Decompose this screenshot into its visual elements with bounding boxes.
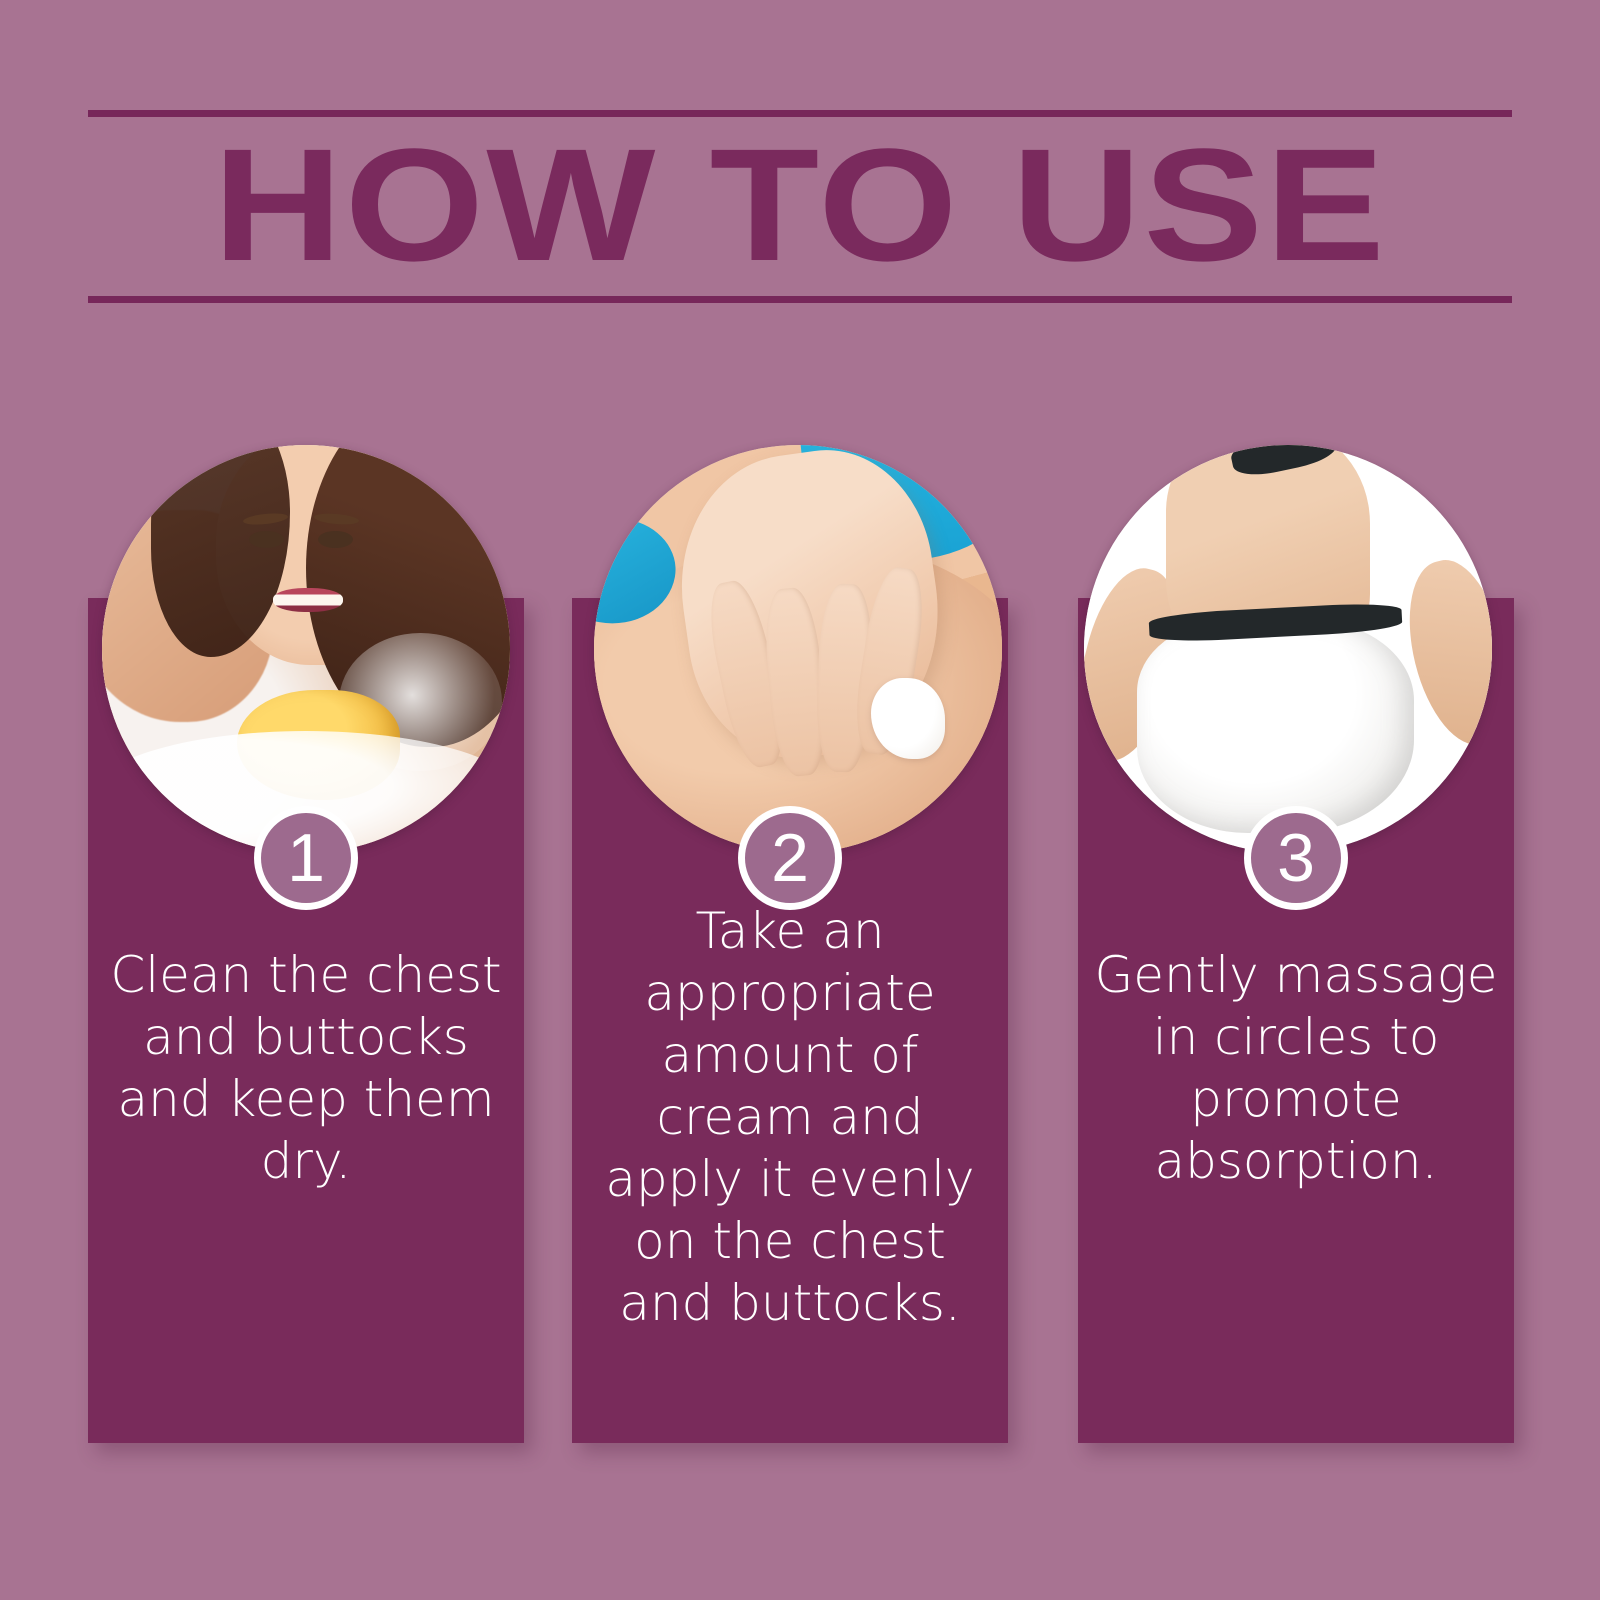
step-number-3: 3 (1277, 824, 1315, 892)
step-number-badge-2: 2 (738, 806, 842, 910)
woman-bathing-with-sponge-photo (102, 445, 510, 853)
step-caption-2: Take an appropriate amount of cream and … (580, 900, 1000, 1334)
step-1-photo (102, 445, 510, 853)
step-2-photo (594, 445, 1002, 853)
step-card-3: 3 Gently massage in circles to promote a… (1078, 598, 1514, 1443)
step-caption-3: Gently massage in circles to promote abs… (1090, 944, 1502, 1192)
step-number-badge-1: 1 (254, 806, 358, 910)
step-number-2: 2 (771, 824, 809, 892)
step-3-photo (1084, 445, 1492, 853)
step-card-2: 2 Take an appropriate amount of cream an… (572, 598, 1008, 1443)
step-caption-1: Clean the chest and buttocks and keep th… (100, 944, 512, 1192)
body-rear-view-white-shorts-photo (1084, 445, 1492, 853)
step-number-badge-3: 3 (1244, 806, 1348, 910)
steps-container: 1 Clean the chest and buttocks and keep … (0, 0, 1600, 1600)
step-number-1: 1 (287, 824, 325, 892)
hand-applying-cream-photo (594, 445, 1002, 853)
step-card-1: 1 Clean the chest and buttocks and keep … (88, 598, 524, 1443)
how-to-use-infographic: HOW TO USE (0, 0, 1600, 1600)
